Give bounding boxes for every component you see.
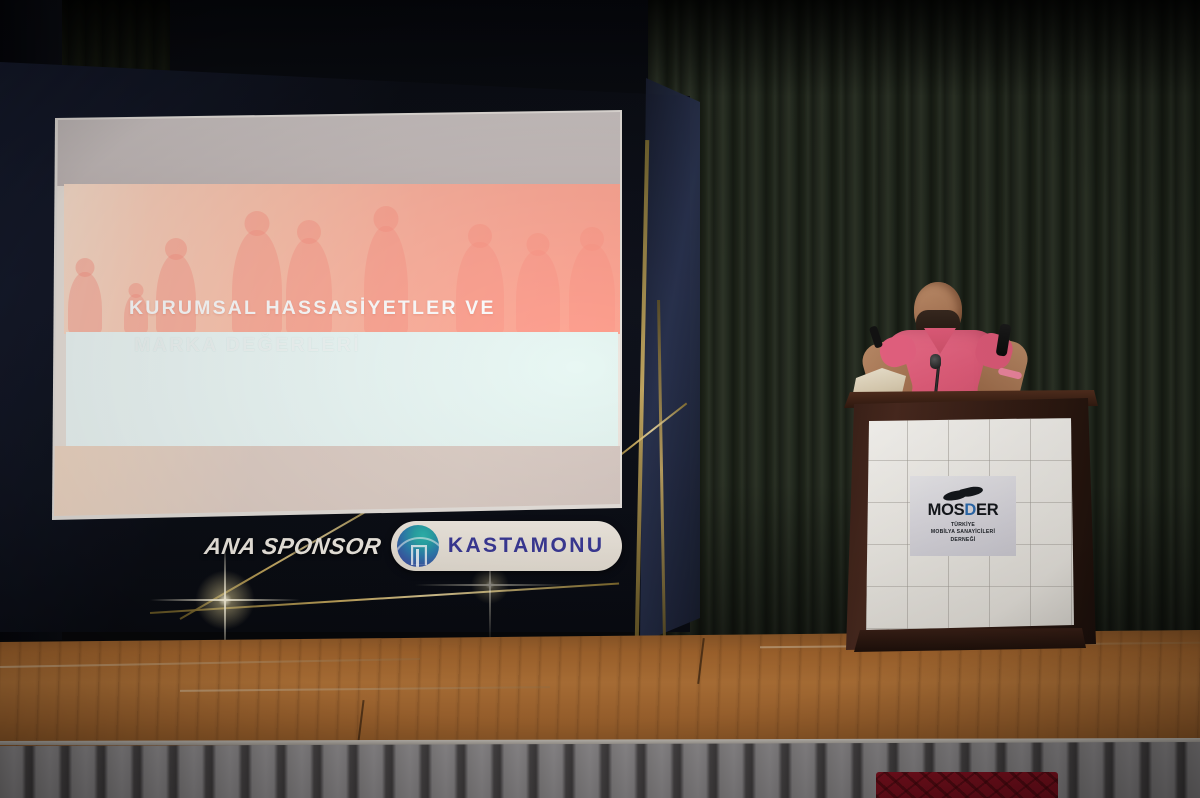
mosder-wordmark: MOSDER [928,502,999,519]
slide-band-bottom [54,446,620,516]
slide-title: KURUMSAL HASSASİYETLER VE [129,297,559,320]
mosder-subtitle-line-3: DERNEĞİ [931,537,995,545]
kastamonu-wordmark: KASTAMONU [448,534,605,558]
sponsor-strip: ANA SPONSOR KASTAMONU [205,518,625,574]
mosder-wordmark-accent: D [964,501,976,519]
sponsor-label: ANA SPONSOR [203,533,383,560]
stage-photo-scene: KURUMSAL HASSASİYETLER VE MARKA DEĞERLER… [0,0,1200,798]
mosder-subtitle: TÜRKİYE MOBİLYA SANAYİCİLERİ DERNEĞİ [931,522,995,545]
mosder-logo-plate: MOSDER TÜRKİYE MOBİLYA SANAYİCİLERİ DERN… [910,476,1016,556]
microphone-icon [930,354,941,369]
mosder-wordmark-part1: MOS [928,501,965,519]
projection-screen: KURUMSAL HASSASİYETLER VE MARKA DEĞERLER… [54,112,620,516]
audience-seat [876,772,1058,798]
globe-icon [397,525,439,567]
mosder-subtitle-line-2: MOBİLYA SANAYİCİLERİ [931,529,995,537]
slide-band-top [54,112,620,186]
podium-and-speaker: MOSDER TÜRKİYE MOBİLYA SANAYİCİLERİ DERN… [846,270,1096,675]
swoosh-icon [943,487,983,500]
slide-subtitle: MARKA DEĞERLERİ [134,334,564,357]
kastamonu-logo: KASTAMONU [391,521,623,571]
mosder-wordmark-part2: ER [976,501,998,519]
podium-base [854,628,1086,652]
backdrop-panel-side [640,78,700,643]
